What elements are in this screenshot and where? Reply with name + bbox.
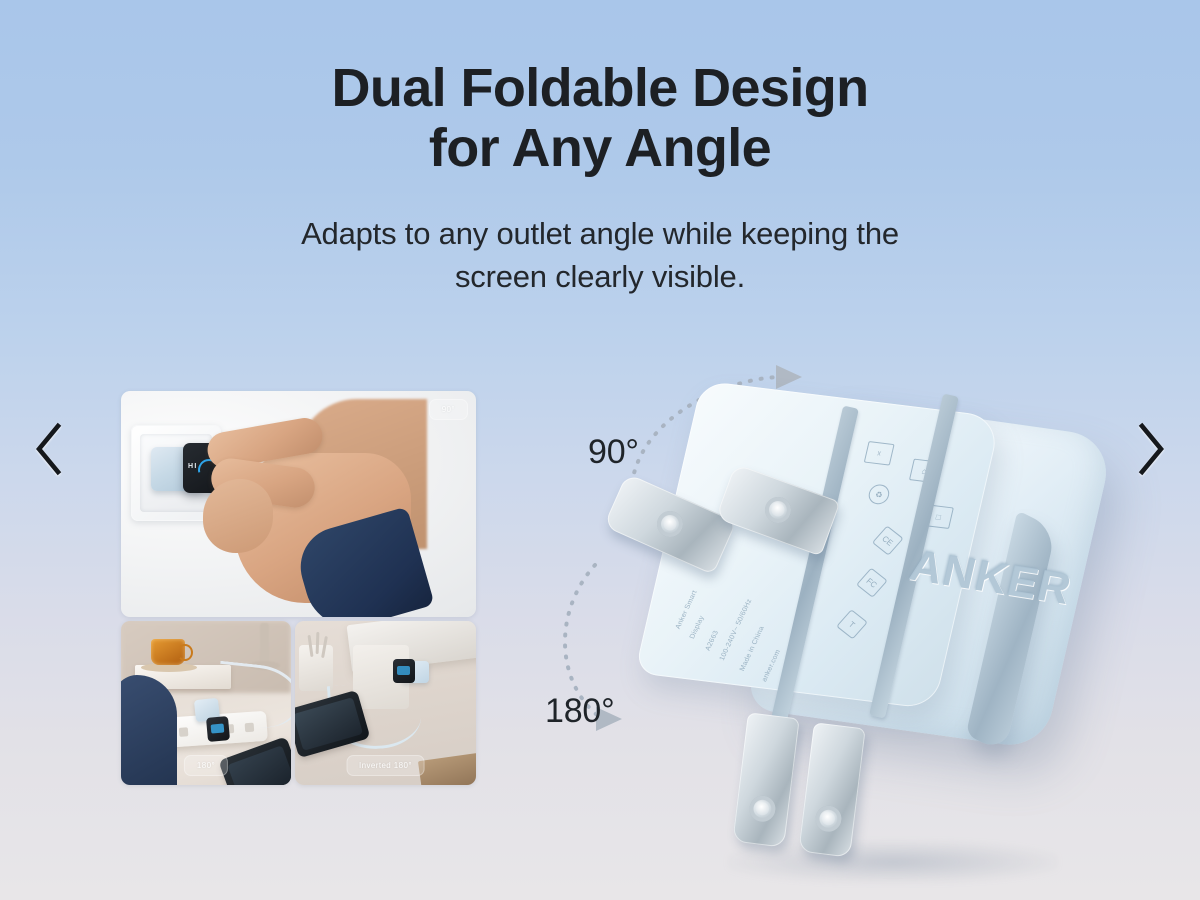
person-shoulder <box>121 675 177 785</box>
subtitle-line-2: screen clearly visible. <box>455 259 745 294</box>
plug-prong-down-2 <box>798 722 865 857</box>
subtitle-line-1: Adapts to any outlet angle while keeping… <box>301 216 899 251</box>
recycle-icon: ♻ <box>867 483 891 505</box>
prong-hole <box>761 493 794 526</box>
phone <box>218 736 291 785</box>
pens <box>307 651 333 673</box>
plug-prong-down-1 <box>732 712 799 847</box>
ground-shadow <box>728 841 1058 883</box>
tea-cup <box>151 639 185 665</box>
charger-display <box>206 716 230 742</box>
no-trash-icon: ☓ <box>864 441 895 466</box>
tuv-icon: T <box>836 609 868 639</box>
phone <box>295 690 370 758</box>
pen-holder <box>299 645 333 691</box>
page-title: Dual Foldable Design for Any Angle <box>0 58 1200 179</box>
headline-block: Dual Foldable Design for Any Angle Adapt… <box>0 58 1200 298</box>
hand <box>207 413 417 613</box>
prong-hole <box>748 794 777 823</box>
thumbnail-under-desk[interactable]: Inverted 180° <box>295 621 476 785</box>
thumbnail-badge: Inverted 180° <box>346 755 425 776</box>
fcc-icon: FC <box>856 568 888 598</box>
title-line-1: Dual Foldable Design <box>331 58 868 118</box>
label-text-model: A2663 <box>704 629 722 652</box>
product-feature-slide: Dual Foldable Design for Any Angle Adapt… <box>0 0 1200 900</box>
knuckles <box>203 479 273 553</box>
angle-label-180: 180° <box>545 692 615 731</box>
prong-hole <box>814 804 843 833</box>
ce-mark-icon: CE <box>872 525 904 555</box>
thumbnail-badge: 90° <box>429 399 468 420</box>
label-text-display: Display <box>688 615 707 641</box>
thumbnail-gallery: HI 90° <box>121 391 476 785</box>
book-stack <box>418 753 476 785</box>
lamp <box>260 623 269 667</box>
charger-3d: Anker Smart A2663 100-240V~ 50/60Hz Made… <box>610 385 1110 865</box>
page-subtitle: Adapts to any outlet angle while keeping… <box>0 213 1200 299</box>
label-text-origin: Made in China <box>738 625 767 672</box>
hero-product-image: 90° 180° Anker Smart A2663 100-240V~ 50/… <box>520 355 1140 875</box>
chevron-left-icon[interactable] <box>32 422 66 476</box>
thumbnail-badge: 180° <box>184 755 228 776</box>
carousel-prev-button[interactable] <box>18 418 80 480</box>
thumbnail-desk-power-strip[interactable]: 180° <box>121 621 291 785</box>
socket <box>179 727 189 737</box>
prong-hole <box>653 507 687 541</box>
scene-wall-outlet: HI <box>121 391 476 617</box>
display-text: HI <box>188 463 198 470</box>
title-line-2: for Any Angle <box>429 118 771 178</box>
thumbnail-outlet-hand[interactable]: HI 90° <box>121 391 476 617</box>
